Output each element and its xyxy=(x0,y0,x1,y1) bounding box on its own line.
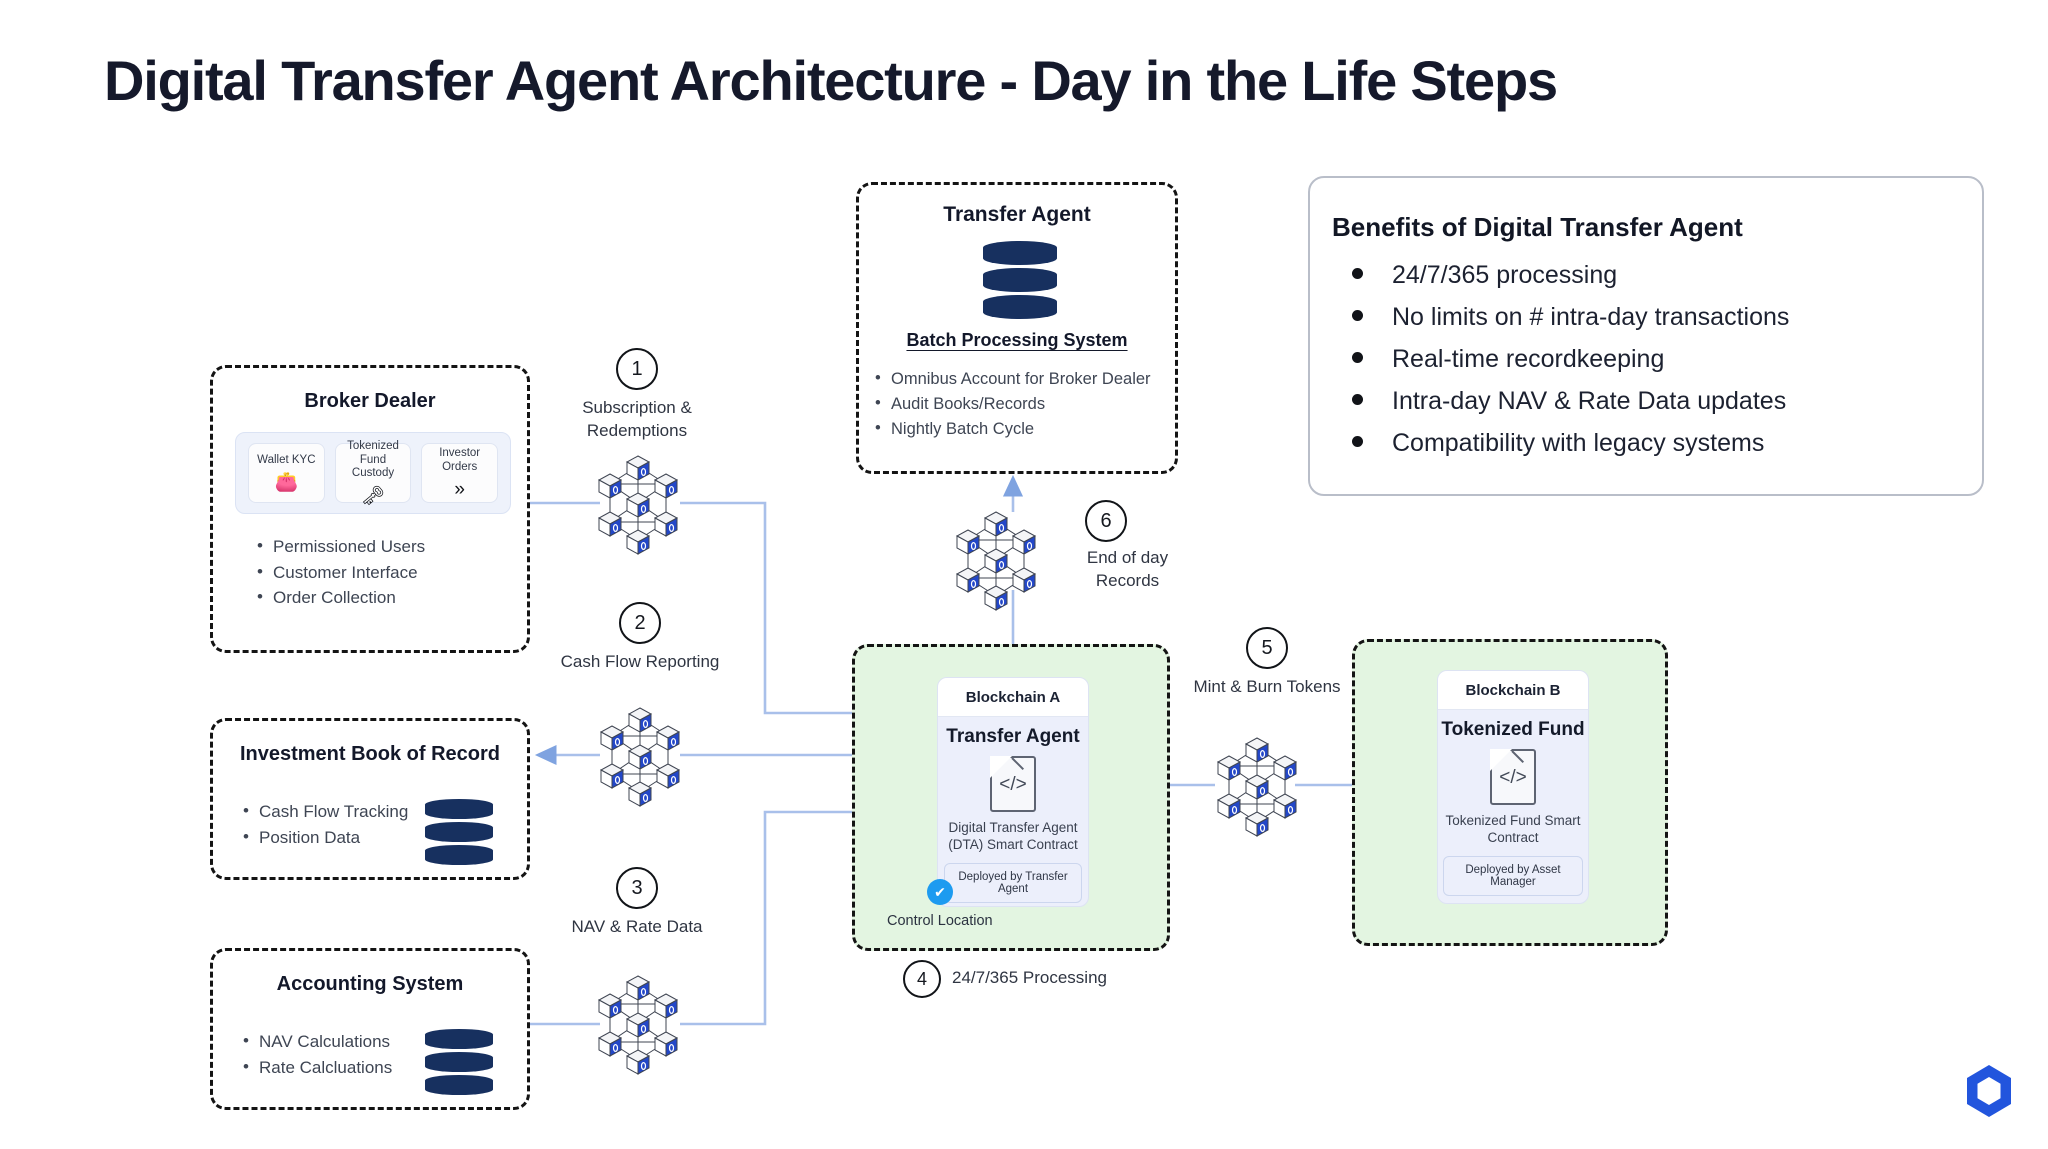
list-item: Order Collection xyxy=(255,585,515,611)
investment-book-of-record-box: Investment Book of Record Cash Flow Trac… xyxy=(210,718,530,880)
list-item: Rate Calcluations xyxy=(241,1055,441,1081)
tile-tokenized-fund-custody[interactable]: Tokenized Fund Custody 🗝 xyxy=(335,443,412,503)
step-3-circle: 3 xyxy=(616,867,658,909)
broker-dealer-bullets: Permissioned Users Customer Interface Or… xyxy=(255,534,515,611)
blockchain-network-icon xyxy=(596,448,680,558)
step-label-text: End of day Records xyxy=(1087,548,1168,590)
ibor-bullets: Cash Flow Tracking Position Data xyxy=(241,799,441,850)
broker-dealer-box: Broker Dealer Wallet KYC 👛 Tokenized Fun… xyxy=(210,365,530,653)
blockchain-a-chip: Deployed by Transfer Agent xyxy=(944,863,1082,903)
transfer-agent-batch-title: Transfer Agent xyxy=(859,203,1175,227)
blockchain-a-chain-label: Blockchain A xyxy=(938,678,1088,717)
step-label-text: 24/7/365 Processing xyxy=(952,968,1107,987)
blockchain-a-subtitle: Digital Transfer Agent (DTA) Smart Contr… xyxy=(944,819,1082,854)
tile-wallet-kyc[interactable]: Wallet KYC 👛 xyxy=(248,443,325,503)
step-number: 2 xyxy=(634,612,645,635)
control-location-label: Control Location xyxy=(887,913,993,929)
list-item: Omnibus Account for Broker Dealer xyxy=(873,367,1173,392)
list-item: Position Data xyxy=(241,825,441,851)
list-item: Audit Books/Records xyxy=(873,392,1173,417)
step-label-text: NAV & Rate Data xyxy=(571,917,702,936)
control-location-zone: Blockchain A Transfer Agent </> Digital … xyxy=(852,644,1170,951)
list-item: No limits on # intra-day transactions xyxy=(1330,296,1970,338)
step-number: 1 xyxy=(631,358,642,381)
list-item: Permissioned Users xyxy=(255,534,515,560)
blockchain-network-icon xyxy=(596,968,680,1078)
broker-dealer-capability-strip: Wallet KYC 👛 Tokenized Fund Custody 🗝 In… xyxy=(235,432,511,514)
benefits-panel: Benefits of Digital Transfer Agent 24/7/… xyxy=(1308,176,1984,496)
accounting-bullets: NAV Calculations Rate Calcluations xyxy=(241,1029,441,1080)
list-item: NAV Calculations xyxy=(241,1029,441,1055)
step-label-text: Cash Flow Reporting xyxy=(561,652,720,671)
step-1-circle: 1 xyxy=(616,348,658,390)
page-title: Digital Transfer Agent Architecture - Da… xyxy=(104,48,1904,113)
list-item: Nightly Batch Cycle xyxy=(873,417,1173,442)
blockchain-b-chip: Deployed by Asset Manager xyxy=(1443,856,1583,896)
batch-processing-subtitle: Batch Processing System xyxy=(859,330,1175,351)
database-icon xyxy=(425,799,493,865)
accounting-system-box: Accounting System NAV Calculations Rate … xyxy=(210,948,530,1110)
blockchain-b-zone: Blockchain B Tokenized Fund </> Tokenize… xyxy=(1352,639,1668,946)
blockchain-b-chain-label: Blockchain B xyxy=(1438,671,1588,710)
step-5-circle: 5 xyxy=(1246,627,1288,669)
benefits-list: 24/7/365 processing No limits on # intra… xyxy=(1330,254,1970,464)
transfer-agent-batch-box: Transfer Agent Batch Processing System O… xyxy=(856,182,1178,474)
double-chevron-right-icon: » xyxy=(454,480,465,499)
step-number: 4 xyxy=(917,969,927,990)
step-4-label: 24/7/365 Processing xyxy=(952,966,1202,989)
step-4-circle: 4 xyxy=(903,960,941,998)
blockchain-network-icon xyxy=(954,504,1038,614)
wallet-icon: 👛 xyxy=(275,473,299,492)
step-5-label: Mint & Burn Tokens xyxy=(1187,675,1347,698)
tile-label: Wallet KYC xyxy=(257,454,315,468)
transfer-agent-batch-bullets: Omnibus Account for Broker Dealer Audit … xyxy=(873,367,1173,441)
step-label-text: Subscription & Redemptions xyxy=(582,398,692,440)
blockchain-network-icon xyxy=(1215,730,1299,840)
step-number: 3 xyxy=(631,877,642,900)
accounting-title: Accounting System xyxy=(213,973,527,996)
verified-check-icon: ✔ xyxy=(927,879,953,905)
step-label-text: Mint & Burn Tokens xyxy=(1193,677,1340,696)
key-icon: 🗝 xyxy=(361,487,385,506)
list-item: Customer Interface xyxy=(255,560,515,586)
blockchain-b-name: Tokenized Fund xyxy=(1441,719,1584,741)
blockchain-b-subtitle: Tokenized Fund Smart Contract xyxy=(1443,812,1583,847)
step-number: 5 xyxy=(1261,637,1272,660)
tile-label: Tokenized Fund Custody xyxy=(340,440,407,481)
code-document-icon: </> xyxy=(1490,749,1536,805)
broker-dealer-title: Broker Dealer xyxy=(213,390,527,413)
list-item: Compatibility with legacy systems xyxy=(1330,422,1970,464)
step-1-label: Subscription & Redemptions xyxy=(557,396,717,443)
step-2-label: Cash Flow Reporting xyxy=(560,650,720,673)
hexagon-ring-logo xyxy=(1962,1062,2016,1120)
code-document-icon: </> xyxy=(990,756,1036,812)
list-item: 24/7/365 processing xyxy=(1330,254,1970,296)
blockchain-network-icon xyxy=(598,700,682,810)
step-6-circle: 6 xyxy=(1085,500,1127,542)
database-icon xyxy=(425,1029,493,1095)
blockchain-a-name: Transfer Agent xyxy=(946,726,1079,748)
database-icon xyxy=(983,241,1057,319)
verified-glyph: ✔ xyxy=(934,884,946,901)
list-item: Real-time recordkeeping xyxy=(1330,338,1970,380)
blockchain-b-card[interactable]: Blockchain B Tokenized Fund </> Tokenize… xyxy=(1437,670,1589,904)
tile-investor-orders[interactable]: Investor Orders » xyxy=(421,443,498,503)
list-item: Intra-day NAV & Rate Data updates xyxy=(1330,380,1970,422)
ibor-title: Investment Book of Record xyxy=(213,743,527,766)
tile-label: Investor Orders xyxy=(426,447,493,475)
benefits-title: Benefits of Digital Transfer Agent xyxy=(1332,212,1743,243)
step-number: 6 xyxy=(1100,510,1111,533)
blockchain-a-card[interactable]: Blockchain A Transfer Agent </> Digital … xyxy=(937,677,1089,907)
step-6-label: End of day Records xyxy=(1055,546,1200,593)
list-item: Cash Flow Tracking xyxy=(241,799,441,825)
step-3-label: NAV & Rate Data xyxy=(557,915,717,938)
step-2-circle: 2 xyxy=(619,602,661,644)
diagram-canvas: Digital Transfer Agent Architecture - Da… xyxy=(0,0,2048,1149)
